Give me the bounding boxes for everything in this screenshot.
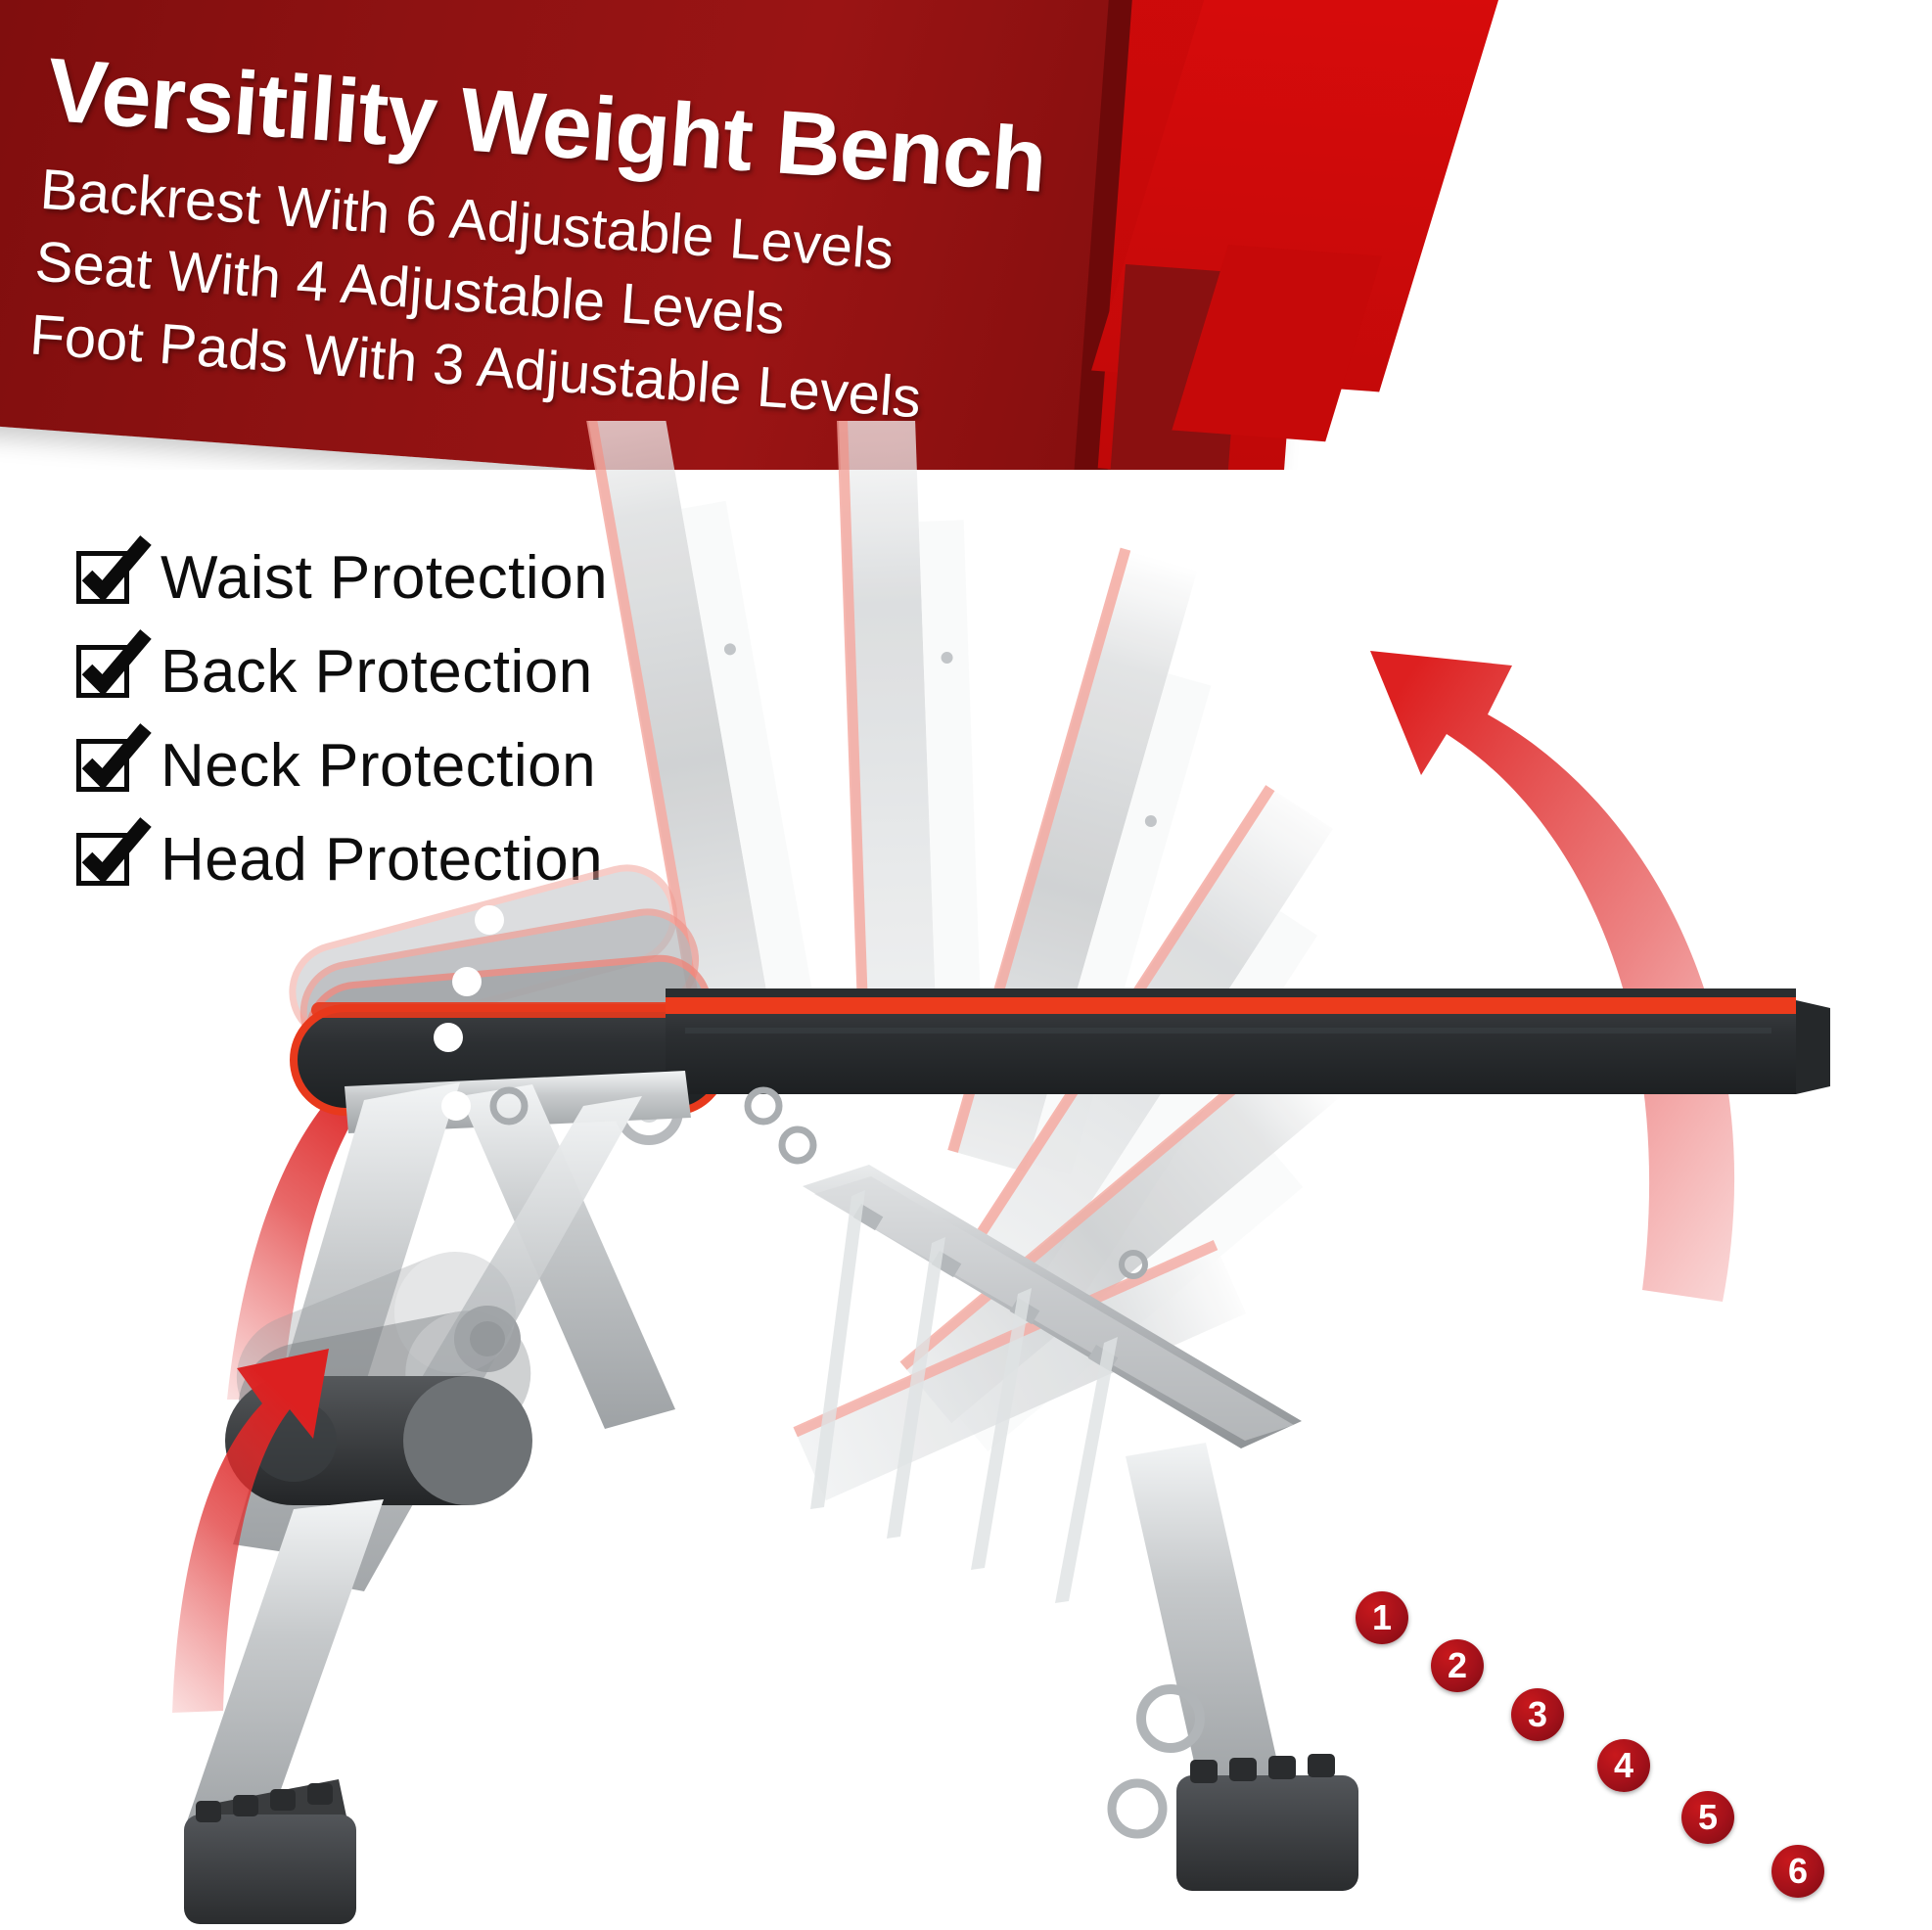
level-badge-4: 4 — [1597, 1739, 1650, 1792]
level-badge-6: 6 — [1771, 1845, 1824, 1898]
level-badge-1: 1 — [1356, 1591, 1408, 1644]
backrest-rotation-arrow — [1370, 651, 1734, 1302]
header-banner: Versitility Weight Bench Backrest With 6… — [0, 0, 1932, 470]
product-illustration: 1 2 3 4 5 6 — [0, 421, 1932, 1930]
level-badge-3: 3 — [1511, 1688, 1564, 1741]
infographic-canvas: Versitility Weight Bench Backrest With 6… — [0, 0, 1932, 1930]
level-badge-5: 5 — [1681, 1791, 1734, 1844]
right-foot-base — [1112, 1443, 1358, 1891]
level-badge-2: 2 — [1431, 1639, 1484, 1692]
main-bench-pad — [666, 988, 1830, 1094]
bench-diagram — [0, 421, 1932, 1930]
backrest-ghost-positions — [582, 421, 1370, 1500]
